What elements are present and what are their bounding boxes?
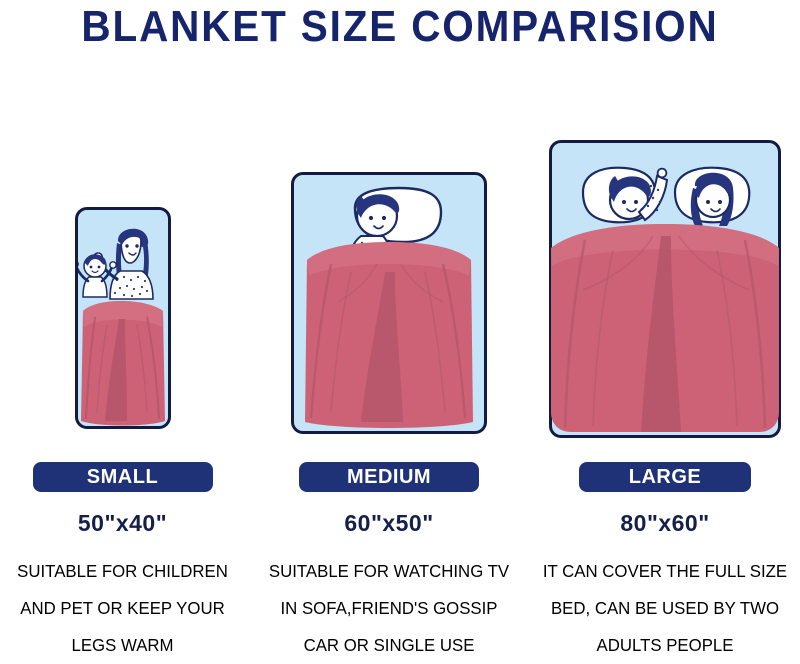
description-line: BED, CAN BE USED BY TWO <box>535 590 794 627</box>
description-line: ADULTS PEOPLE <box>535 627 794 664</box>
description-large: IT CAN COVER THE FULL SIZE BED, CAN BE U… <box>530 553 800 664</box>
size-badge-medium[interactable]: MEDIUM <box>299 462 479 492</box>
description-small: SUITABLE FOR CHILDREN AND PET OR KEEP YO… <box>0 553 245 664</box>
blanket-medium <box>305 242 473 428</box>
illustration-medium <box>291 172 487 434</box>
size-column-medium: MEDIUM 60"x50" SUITABLE FOR WATCHING TV … <box>258 0 520 658</box>
blanket-large <box>551 224 779 432</box>
description-line: SUITABLE FOR WATCHING TV <box>263 553 515 590</box>
size-column-large: LARGE 80"x60" IT CAN COVER THE FULL SIZE… <box>530 0 800 658</box>
description-line: SUITABLE FOR CHILDREN <box>5 553 240 590</box>
scene-woman-and-child <box>75 207 171 429</box>
size-badge-large[interactable]: LARGE <box>579 462 751 492</box>
dimensions-small: 50"x40" <box>0 510 245 537</box>
description-line: CAR OR SINGLE USE <box>263 627 515 664</box>
illustration-small <box>75 207 171 429</box>
figure-woman <box>691 173 734 226</box>
illustration-large <box>549 140 781 438</box>
size-badge-small[interactable]: SMALL <box>33 462 213 492</box>
scene-single-person <box>291 172 487 434</box>
scene-couple <box>549 140 781 438</box>
dimensions-large: 80"x60" <box>530 510 800 537</box>
dimensions-medium: 60"x50" <box>258 510 520 537</box>
description-line: LEGS WARM <box>5 627 240 664</box>
description-line: IT CAN COVER THE FULL SIZE <box>535 553 794 590</box>
blanket-small <box>81 301 165 426</box>
figure-child <box>71 255 115 297</box>
description-line: AND PET OR KEEP YOUR <box>5 590 240 627</box>
description-medium: SUITABLE FOR WATCHING TV IN SOFA,FRIEND'… <box>258 553 520 664</box>
description-line: IN SOFA,FRIEND'S GOSSIP <box>263 590 515 627</box>
size-column-small: SMALL 50"x40" SUITABLE FOR CHILDREN AND … <box>0 0 245 658</box>
